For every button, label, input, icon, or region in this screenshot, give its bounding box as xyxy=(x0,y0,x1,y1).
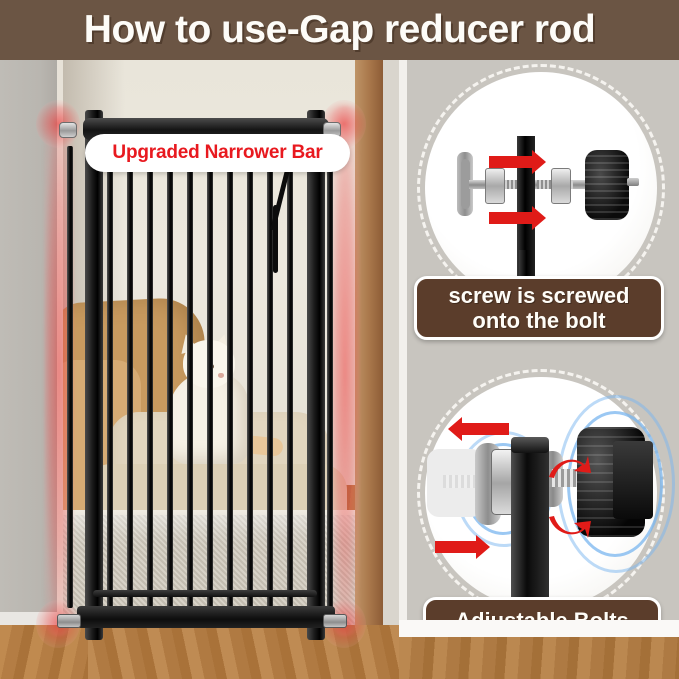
gate-bar-outer-left xyxy=(67,146,73,608)
gate-bar xyxy=(207,134,213,612)
header-banner: How to use-Gap reducer rod xyxy=(0,0,679,60)
mount-foot-bottom-left xyxy=(57,614,81,628)
label-line-2: onto the bolt xyxy=(472,308,605,333)
gate-bar xyxy=(247,134,253,612)
gate-post-left xyxy=(85,110,103,640)
adjust-knob-arm xyxy=(613,441,653,519)
panel-adjustable-bolts: Adjustable Bolts xyxy=(399,365,679,655)
gate-bar xyxy=(187,134,193,612)
infographic-page: How to use-Gap reducer rod xyxy=(0,0,679,679)
page-title: How to use-Gap reducer rod xyxy=(84,8,595,52)
column-divider xyxy=(399,60,407,679)
right-detail-column: screw is screwed onto the bolt xyxy=(399,60,679,679)
gate-bar xyxy=(227,134,233,612)
gate-bar xyxy=(267,134,273,612)
gate-bar xyxy=(127,134,133,612)
mount-foot-bottom-right xyxy=(323,614,347,628)
hex-nut-right xyxy=(551,168,571,204)
gate-bar xyxy=(167,134,173,612)
rotation-arrows-icon xyxy=(541,443,593,553)
gate-bottom-rail xyxy=(77,606,335,628)
right-floor-baseboard xyxy=(399,620,679,638)
panel-screw-bolt: screw is screwed onto the bolt xyxy=(399,60,679,350)
adjust-knob-ridges xyxy=(585,150,629,220)
gate-bar xyxy=(147,134,153,612)
mount-screw-top-left xyxy=(59,122,77,138)
hex-nut-left xyxy=(485,168,505,204)
gate-bar xyxy=(287,134,293,612)
gate-bar xyxy=(107,134,113,612)
right-wood-floor xyxy=(399,637,679,679)
callout-label: Upgraded Narrower Bar xyxy=(112,142,322,164)
pet-gate-photo: Upgraded Narrower Bar xyxy=(0,60,399,679)
adjust-knob-tip xyxy=(627,178,639,186)
label-screw-bolt: screw is screwed onto the bolt xyxy=(414,276,664,340)
upgraded-narrower-bar-callout: Upgraded Narrower Bar xyxy=(85,134,350,172)
arrow-right-bottom-icon xyxy=(489,212,533,224)
label-line-1: screw is screwed xyxy=(448,283,629,308)
gate-lower-crossbar xyxy=(93,590,317,597)
gate-handle-rod-lower[interactable] xyxy=(273,205,278,273)
arrow-left-top-icon xyxy=(461,423,509,435)
gate-post-right xyxy=(307,110,325,640)
right-wall-edge xyxy=(383,60,399,640)
gate-bar-outer-right xyxy=(327,146,333,608)
adjustable-bolt-knob-diagram-icon xyxy=(399,365,679,625)
arrow-right-top-icon xyxy=(489,156,533,168)
arrow-right-bottom-icon xyxy=(435,541,477,553)
pet-gate xyxy=(55,110,355,640)
